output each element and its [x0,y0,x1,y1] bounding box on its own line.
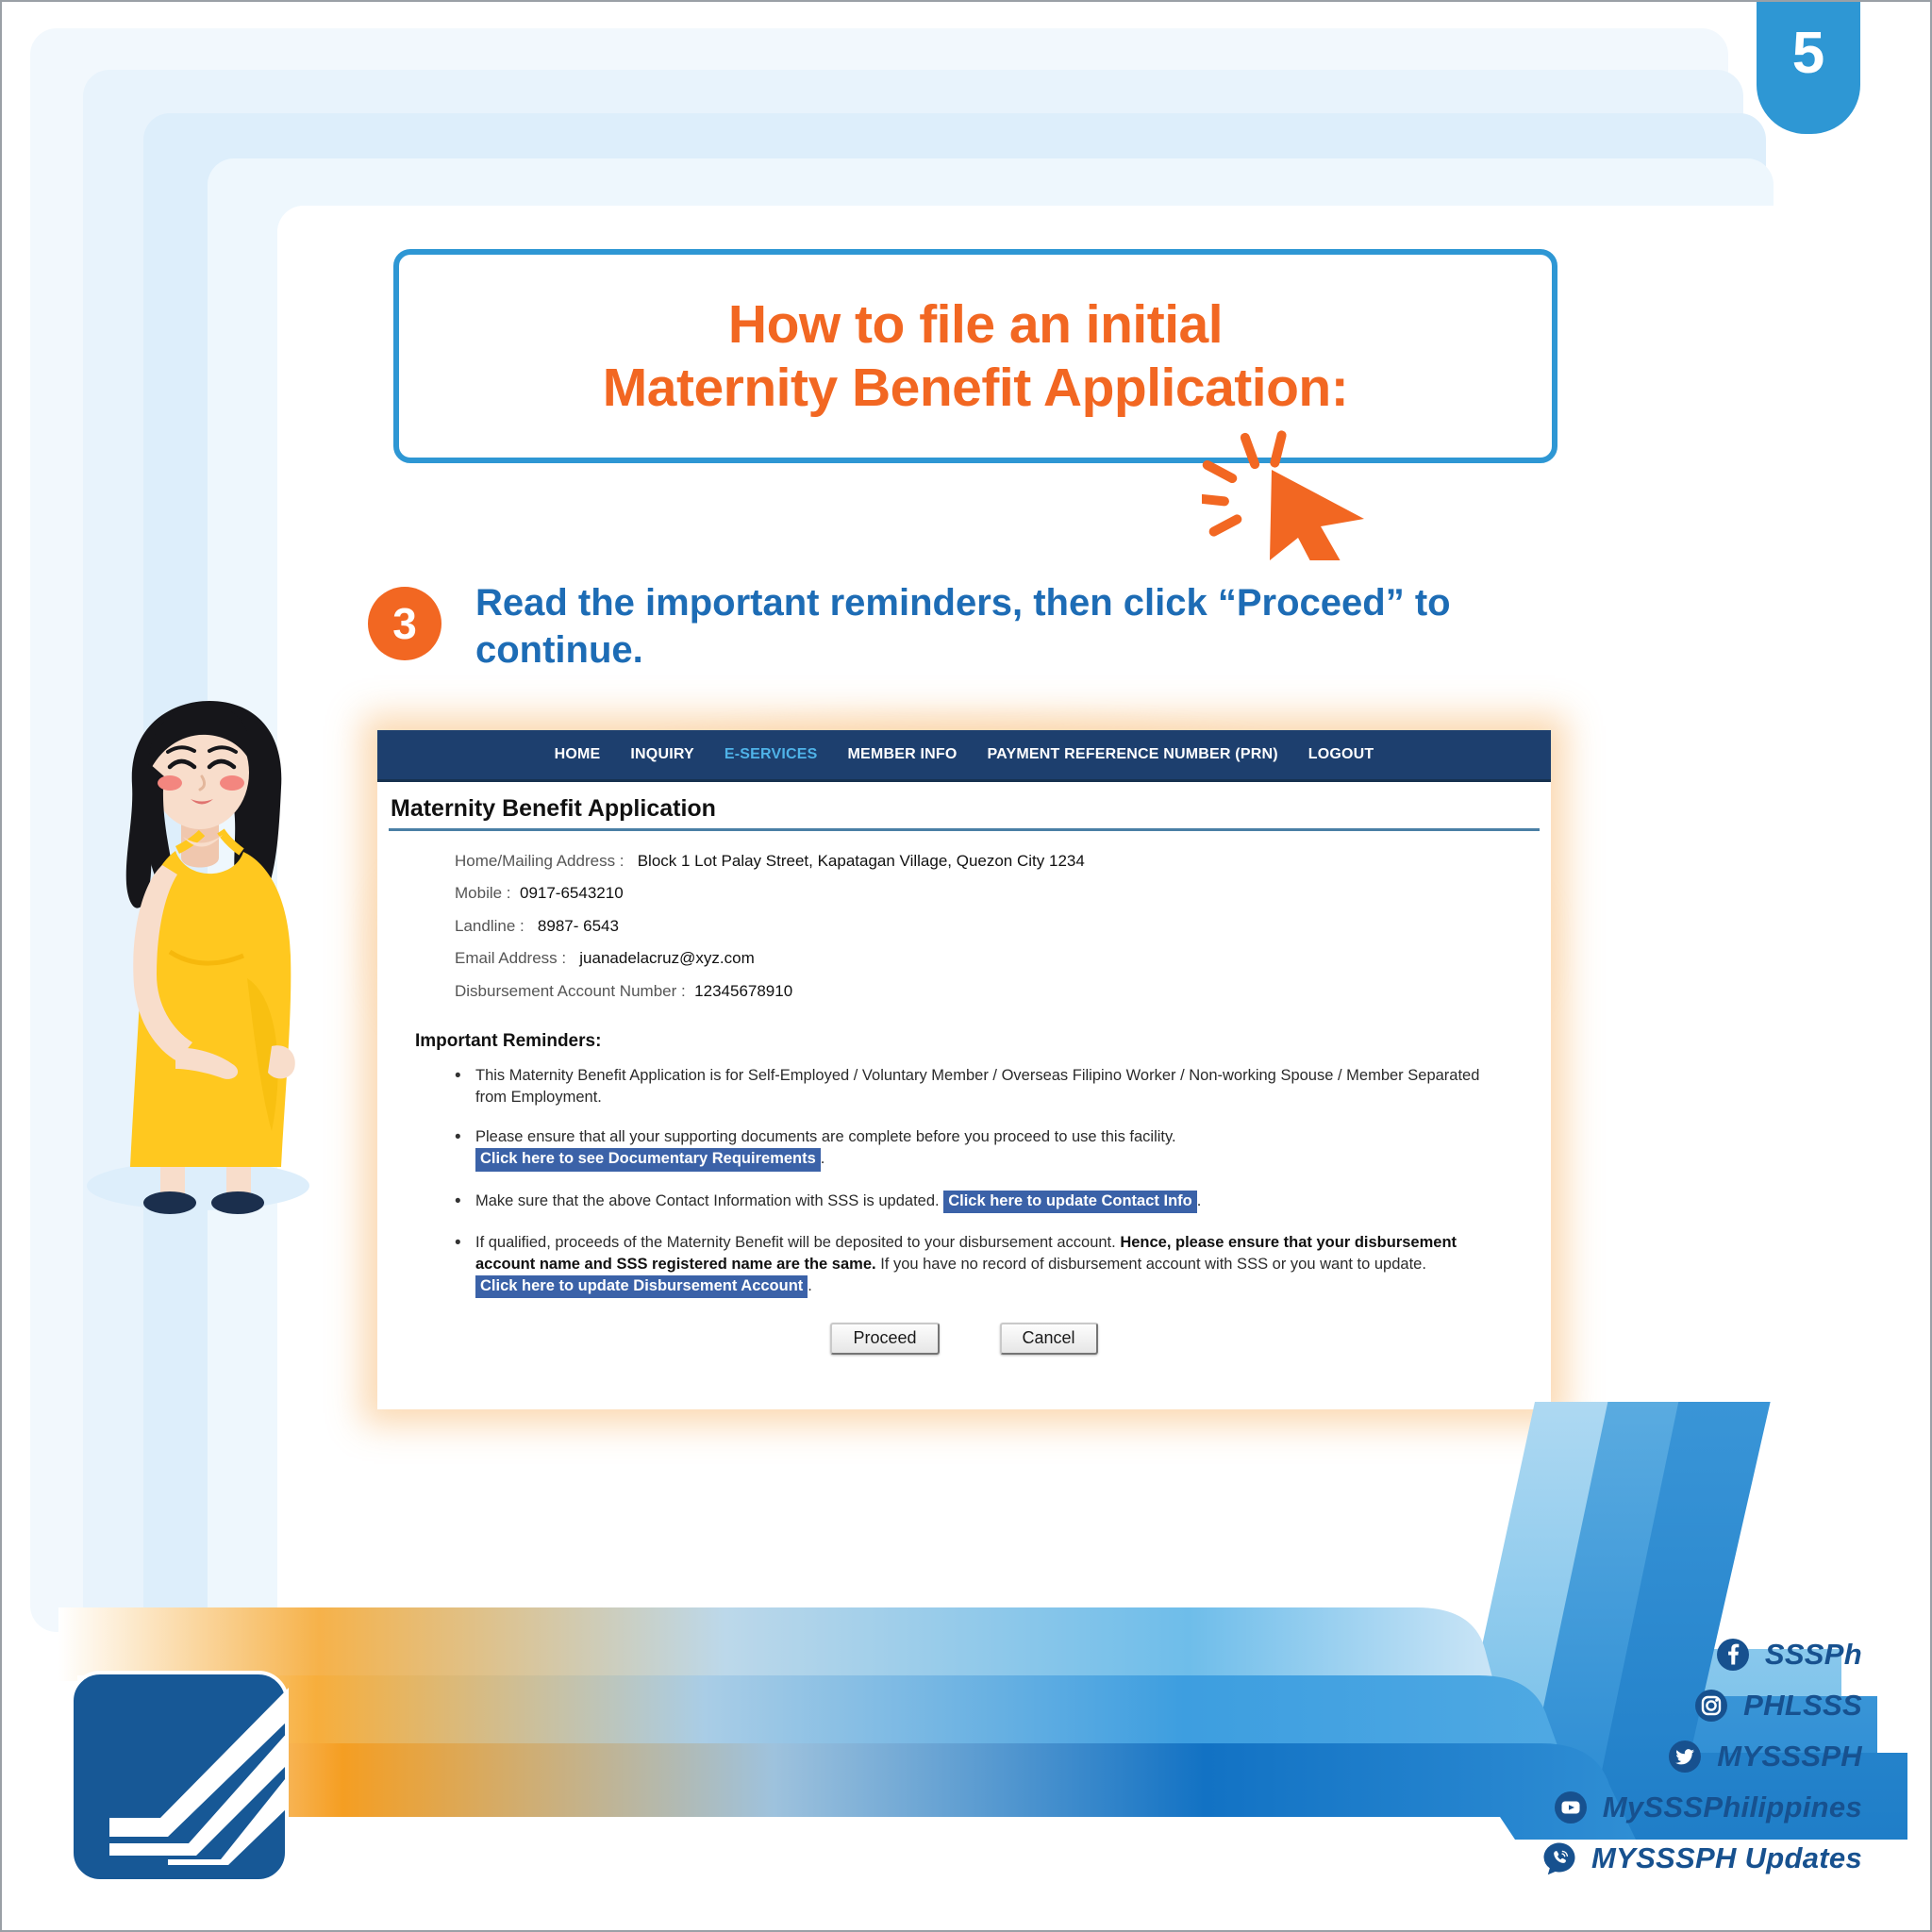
info-label-address: Home/Mailing Address : [455,852,625,870]
important-reminders-heading: Important Reminders: [377,1014,1551,1052]
twitter-icon [1668,1740,1702,1774]
important-reminders-list: This Maternity Benefit Application is fo… [377,1065,1551,1298]
info-row-mobile: Mobile : 0917-6543210 [455,884,1551,903]
info-value-mobile: 0917-6543210 [520,884,624,902]
pregnant-woman-illustration [58,695,370,1224]
info-label-email: Email Address : [455,949,566,967]
nav-item-home[interactable]: HOME [540,746,616,763]
browser-screenshot: HOME INQUIRY E-SERVICES MEMBER INFO PAYM… [377,730,1551,1409]
reminder-item-3: Make sure that the above Contact Informa… [455,1191,1513,1213]
social-label-instagram: PHLSSS [1743,1689,1862,1723]
reminder-4-period: . [808,1277,812,1294]
reminder-item-2: Please ensure that all your supporting d… [455,1126,1513,1171]
infographic-page: 5 How to file an initial Maternity Benef… [0,0,1932,1932]
info-row-disbursement-account: Disbursement Account Number : 1234567891… [455,982,1551,1001]
contact-info-block: Home/Mailing Address : Block 1 Lot Palay… [377,831,1551,1001]
social-label-viber: MYSSSPH Updates [1591,1841,1862,1875]
page-title-box: How to file an initial Maternity Benefit… [393,249,1557,463]
step-row: 3 Read the important reminders, then cli… [368,579,1481,674]
info-row-address: Home/Mailing Address : Block 1 Lot Palay… [455,852,1551,871]
info-value-address: Block 1 Lot Palay Street, Kapatagan Vill… [638,852,1085,870]
social-row-facebook[interactable]: SSSPh [1716,1638,1862,1672]
viber-icon [1542,1841,1576,1875]
youtube-icon [1554,1790,1588,1824]
reminder-1-text: This Maternity Benefit Application is fo… [475,1067,1479,1106]
reminder-3-text: Make sure that the above Contact Informa… [475,1192,940,1209]
page-title-line-1: How to file an initial [728,293,1223,357]
nav-item-e-services[interactable]: E-SERVICES [709,746,833,763]
documentary-requirements-link[interactable]: Click here to see Documentary Requiremen… [475,1148,821,1171]
update-disbursement-account-link[interactable]: Click here to update Disbursement Accoun… [475,1275,808,1298]
step-number-badge: 3 [368,587,441,660]
reminder-item-4: If qualified, proceeds of the Maternity … [455,1232,1513,1298]
info-row-email: Email Address : juanadelacruz@xyz.com [455,949,1551,968]
nav-item-member-info[interactable]: MEMBER INFO [833,746,973,763]
proceed-button[interactable]: Proceed [830,1323,939,1355]
nav-item-inquiry[interactable]: INQUIRY [615,746,708,763]
info-value-disbursement-account: 12345678910 [694,982,792,1000]
nav-item-payment-reference-number[interactable]: PAYMENT REFERENCE NUMBER (PRN) [973,746,1293,763]
page-title-line-2: Maternity Benefit Application: [603,357,1348,420]
social-row-twitter[interactable]: MYSSSPH [1668,1740,1862,1774]
social-row-viber[interactable]: MYSSSPH Updates [1542,1841,1862,1875]
social-links: SSSPh PHLSSS MYSSSPH MySSS [1542,1638,1862,1875]
social-label-youtube: MySSSPhilippines [1603,1790,1862,1824]
page-number-badge: 5 [1757,0,1860,134]
reminder-2-text: Please ensure that all your supporting d… [475,1128,1176,1145]
info-label-mobile: Mobile : [455,884,511,902]
reminder-4-text: If qualified, proceeds of the Maternity … [475,1234,1116,1251]
reminder-2-period: . [821,1150,825,1167]
form-page-title: Maternity Benefit Application [377,782,1551,828]
cancel-button[interactable]: Cancel [1000,1323,1098,1355]
info-value-email: juanadelacruz@xyz.com [579,949,754,967]
info-row-landline: Landline : 8987- 6543 [455,917,1551,936]
form-button-row: Proceed Cancel [377,1323,1551,1355]
info-value-landline: 8987- 6543 [538,917,619,935]
facebook-icon [1716,1638,1750,1672]
info-label-landline: Landline : [455,917,525,935]
screenshot-body: Maternity Benefit Application Home/Maili… [377,782,1551,1409]
social-row-instagram[interactable]: PHLSSS [1694,1689,1862,1723]
nav-item-logout[interactable]: LOGOUT [1293,746,1390,763]
update-contact-info-link[interactable]: Click here to update Contact Info [943,1191,1197,1213]
social-label-twitter: MYSSSPH [1717,1740,1862,1774]
click-cursor-icon [1202,428,1372,560]
social-row-youtube[interactable]: MySSSPhilippines [1554,1790,1862,1824]
reminder-3-period: . [1197,1192,1202,1209]
site-navigation-bar: HOME INQUIRY E-SERVICES MEMBER INFO PAYM… [377,730,1551,782]
reminder-4-text-mid: If you have no record of disbursement ac… [880,1256,1426,1273]
sss-logo [70,1671,289,1883]
info-label-disbursement-account: Disbursement Account Number : [455,982,686,1000]
social-label-facebook: SSSPh [1765,1638,1862,1672]
reminder-item-1: This Maternity Benefit Application is fo… [455,1065,1513,1108]
instagram-icon [1694,1689,1728,1723]
step-instruction-text: Read the important reminders, then click… [475,579,1481,674]
